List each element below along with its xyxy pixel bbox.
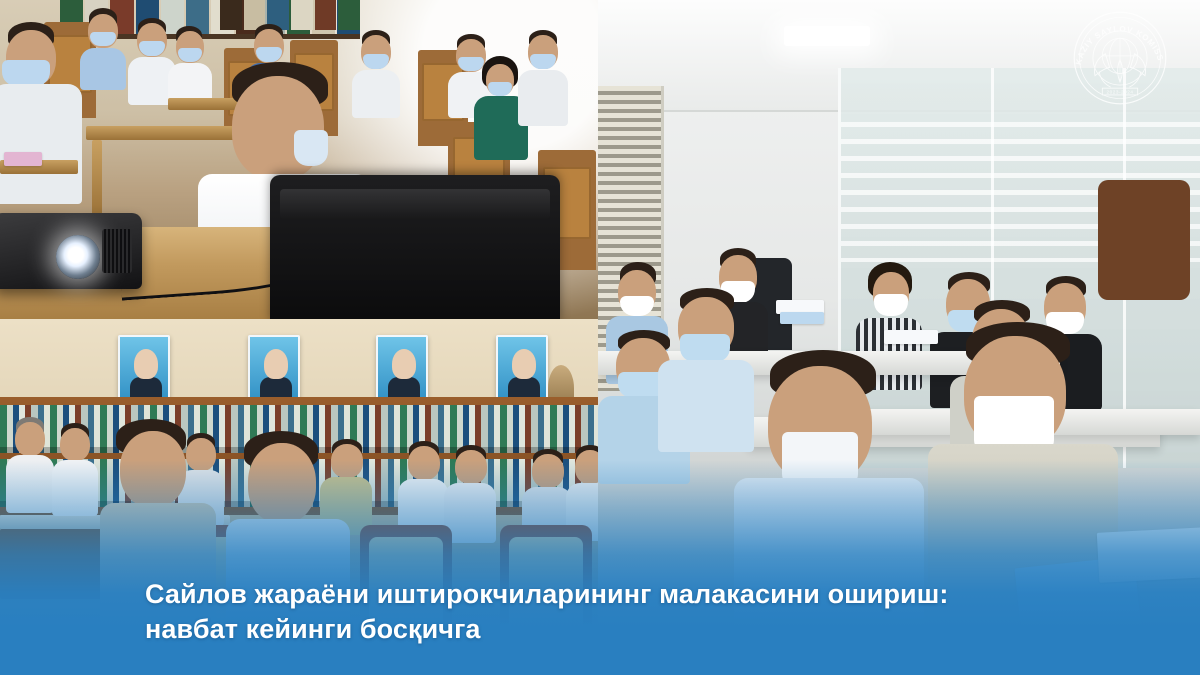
- projector-lens: [56, 235, 100, 279]
- computer-monitor: [270, 175, 560, 319]
- headline-line-1: Сайлов жараёни иштирокчиларининг малакас…: [145, 579, 948, 609]
- participant: [6, 417, 54, 513]
- wall-portrait: [118, 335, 170, 405]
- participant-foreground-left: [0, 22, 82, 202]
- paper-stack: [1097, 527, 1200, 583]
- participant: [398, 441, 448, 537]
- participant: [80, 8, 126, 88]
- headline: Сайлов жараёни иштирокчиларининг малакас…: [145, 577, 1130, 647]
- photo-right: [598, 0, 1200, 675]
- headline-line-2: навбат кейинги босқичга: [145, 612, 1130, 647]
- participant: [444, 445, 496, 543]
- photo-collage: [0, 0, 1200, 675]
- desk: [92, 140, 102, 218]
- participant: [52, 423, 98, 515]
- news-banner: Сайлов жараёни иштирокчиларининг малакас…: [0, 0, 1200, 675]
- collage-left-column: [0, 0, 598, 675]
- participant: [518, 30, 568, 126]
- photo-top-left: [0, 0, 598, 319]
- office-chair: [1098, 180, 1190, 300]
- paper: [4, 152, 42, 166]
- ceiling-light: [784, 26, 870, 46]
- wall-portrait: [248, 335, 300, 405]
- classroom-scene: [0, 0, 598, 319]
- wall-portrait: [496, 335, 548, 405]
- paper-folder: [780, 312, 824, 324]
- office-meeting-scene: [598, 0, 1200, 675]
- wall-portrait: [376, 335, 428, 405]
